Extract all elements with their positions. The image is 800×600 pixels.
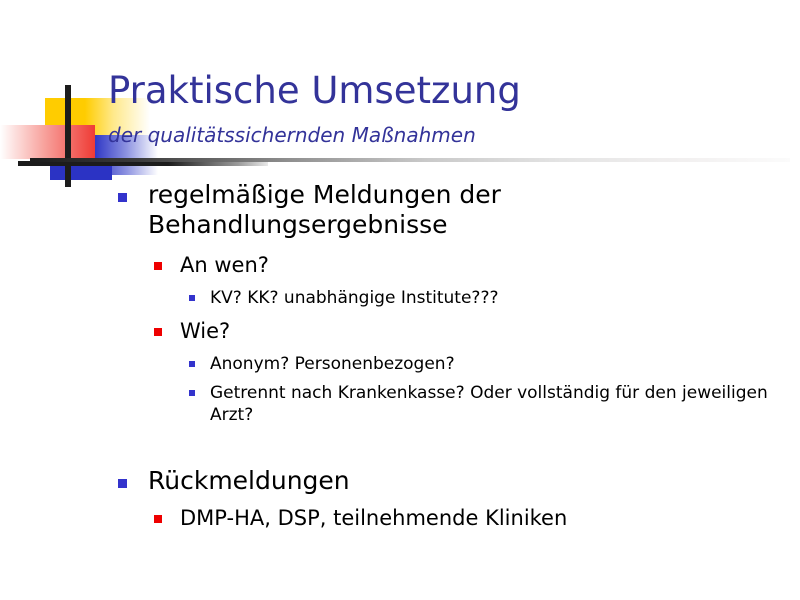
logo-vertical-line xyxy=(65,85,71,187)
spacer xyxy=(0,375,800,382)
bullet-item-level2: Wie? xyxy=(0,318,800,344)
bullet-text: regelmäßige Meldungen der Behandlungserg… xyxy=(148,180,800,240)
bullet-item-level1: Rückmeldungen xyxy=(0,466,800,496)
bullet-item-level3: Getrennt nach Krankenkasse? Oder vollstä… xyxy=(0,382,800,426)
spacer xyxy=(0,344,800,353)
bullet-text: Rückmeldungen xyxy=(148,466,350,496)
bullet-text: An wen? xyxy=(180,252,269,278)
spacer xyxy=(0,278,800,287)
bullet-text: Anonym? Personenbezogen? xyxy=(210,353,455,375)
logo-red-block xyxy=(0,125,95,159)
slide-title: Praktische Umsetzung xyxy=(108,69,521,113)
spacer xyxy=(0,240,800,252)
title-divider-rule xyxy=(30,158,790,162)
bullet-square-icon xyxy=(189,361,195,367)
slide-body: regelmäßige Meldungen der Behandlungserg… xyxy=(0,180,800,531)
slide-subtitle: der qualitätssichernden Maßnahmen xyxy=(108,122,476,148)
bullet-item-level2: An wen? xyxy=(0,252,800,278)
bullet-text: Wie? xyxy=(180,318,230,344)
bullet-square-icon xyxy=(118,193,127,202)
bullet-text: Getrennt nach Krankenkasse? Oder vollstä… xyxy=(210,382,800,426)
bullet-text: DMP-HA, DSP, teilnehmende Kliniken xyxy=(180,505,567,531)
bullet-square-icon xyxy=(189,295,195,301)
bullet-text: KV? KK? unabhängige Institute??? xyxy=(210,287,499,309)
bullet-item-level3: Anonym? Personenbezogen? xyxy=(0,353,800,375)
presentation-slide: Praktische Umsetzung der qualitätssicher… xyxy=(0,0,800,600)
bullet-square-icon xyxy=(154,515,162,523)
bullet-square-icon xyxy=(189,390,195,396)
spacer xyxy=(0,309,800,318)
bullet-square-icon xyxy=(154,328,162,336)
bullet-item-level1: regelmäßige Meldungen der Behandlungserg… xyxy=(0,180,800,240)
spacer xyxy=(0,496,800,505)
bullet-item-level2: DMP-HA, DSP, teilnehmende Kliniken xyxy=(0,505,800,531)
bullet-square-icon xyxy=(154,262,162,270)
spacer xyxy=(0,426,800,466)
bullet-square-icon xyxy=(118,479,127,488)
bullet-item-level3: KV? KK? unabhängige Institute??? xyxy=(0,287,800,309)
